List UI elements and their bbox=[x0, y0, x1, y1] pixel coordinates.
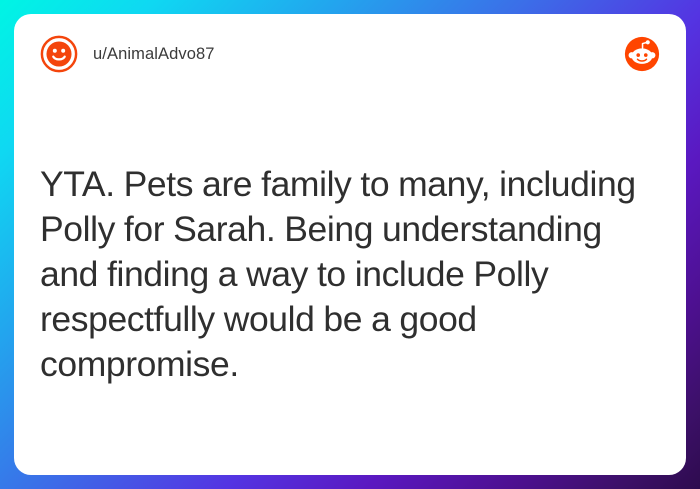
reddit-comment-card: u/AnimalAdvo87 YTA. Pets a bbox=[14, 14, 686, 475]
screen-root: u/AnimalAdvo87 YTA. Pets a bbox=[0, 0, 700, 489]
smiley-face-avatar-icon[interactable] bbox=[40, 35, 78, 73]
card-header: u/AnimalAdvo87 bbox=[14, 14, 686, 94]
username-label: u/AnimalAdvo87 bbox=[93, 45, 215, 64]
card-body: YTA. Pets are family to many, including … bbox=[40, 162, 660, 387]
post-text: YTA. Pets are family to many, including … bbox=[40, 162, 660, 387]
reddit-snoo-logo-icon[interactable] bbox=[624, 36, 660, 72]
